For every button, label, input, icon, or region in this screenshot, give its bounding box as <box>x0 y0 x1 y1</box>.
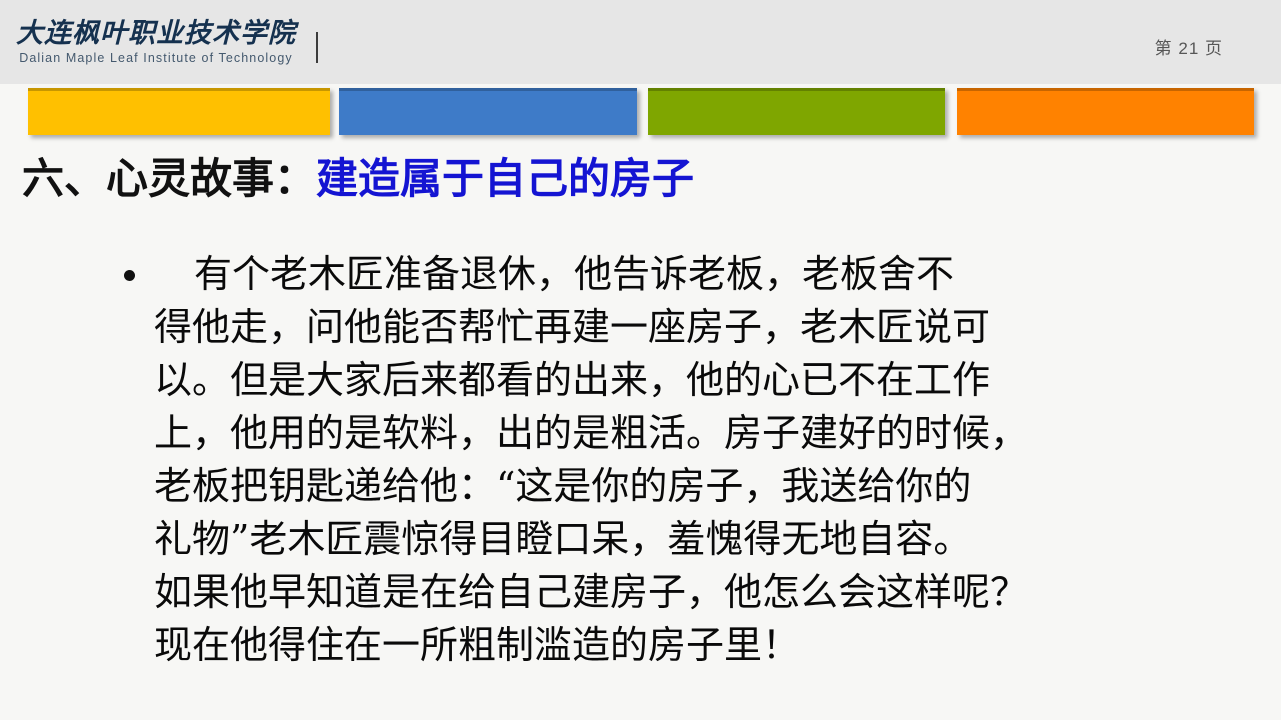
slide-title-highlight: 建造属于自己的房子 <box>316 154 694 203</box>
story-line: 老板把钥匙递给他：“这是你的房子，我送给你的 <box>118 460 1178 513</box>
decorative-color-bars <box>0 84 1281 134</box>
bar-blue <box>339 88 637 135</box>
story-line: 上，他用的是软料，出的是粗活。房子建好的时候， <box>118 407 1178 460</box>
slide-title-prefix: 六、心灵故事： <box>22 154 316 203</box>
logo-english-name: Dalian Maple Leaf Institute of Technolog… <box>8 50 304 67</box>
slide-canvas: 大连枫叶职业技术学院 Dalian Maple Leaf Institute o… <box>0 0 1281 720</box>
bar-green <box>648 88 945 135</box>
story-paragraph: 有个老木匠准备退休，他告诉老板，老板舍不 得他走，问他能否帮忙再建一座房子，老木… <box>118 248 1178 672</box>
slide-title: 六、心灵故事：建造属于自己的房子 <box>22 152 694 206</box>
story-line: 有个老木匠准备退休，他告诉老板，老板舍不 <box>118 248 1178 301</box>
slide-header: 大连枫叶职业技术学院 Dalian Maple Leaf Institute o… <box>0 0 1281 84</box>
page-number-label: 第 21 页 <box>1155 38 1223 60</box>
logo-chinese-name: 大连枫叶职业技术学院 <box>8 18 304 50</box>
institution-logo: 大连枫叶职业技术学院 Dalian Maple Leaf Institute o… <box>8 18 304 73</box>
bullet-point-icon <box>124 270 135 281</box>
bar-gold <box>28 88 330 135</box>
header-divider-line <box>316 32 318 63</box>
story-line: 现在他得住在一所粗制滥造的房子里！ <box>118 619 1178 672</box>
bar-orange <box>957 88 1254 135</box>
story-line: 得他走，问他能否帮忙再建一座房子，老木匠说可 <box>118 301 1178 354</box>
story-line: 礼物”老木匠震惊得目瞪口呆，羞愧得无地自容。 <box>118 513 1178 566</box>
slide-body: 有个老木匠准备退休，他告诉老板，老板舍不 得他走，问他能否帮忙再建一座房子，老木… <box>118 248 1178 672</box>
story-line: 以。但是大家后来都看的出来，他的心已不在工作 <box>118 354 1178 407</box>
story-line: 如果他早知道是在给自己建房子，他怎么会这样呢？ <box>118 566 1178 619</box>
